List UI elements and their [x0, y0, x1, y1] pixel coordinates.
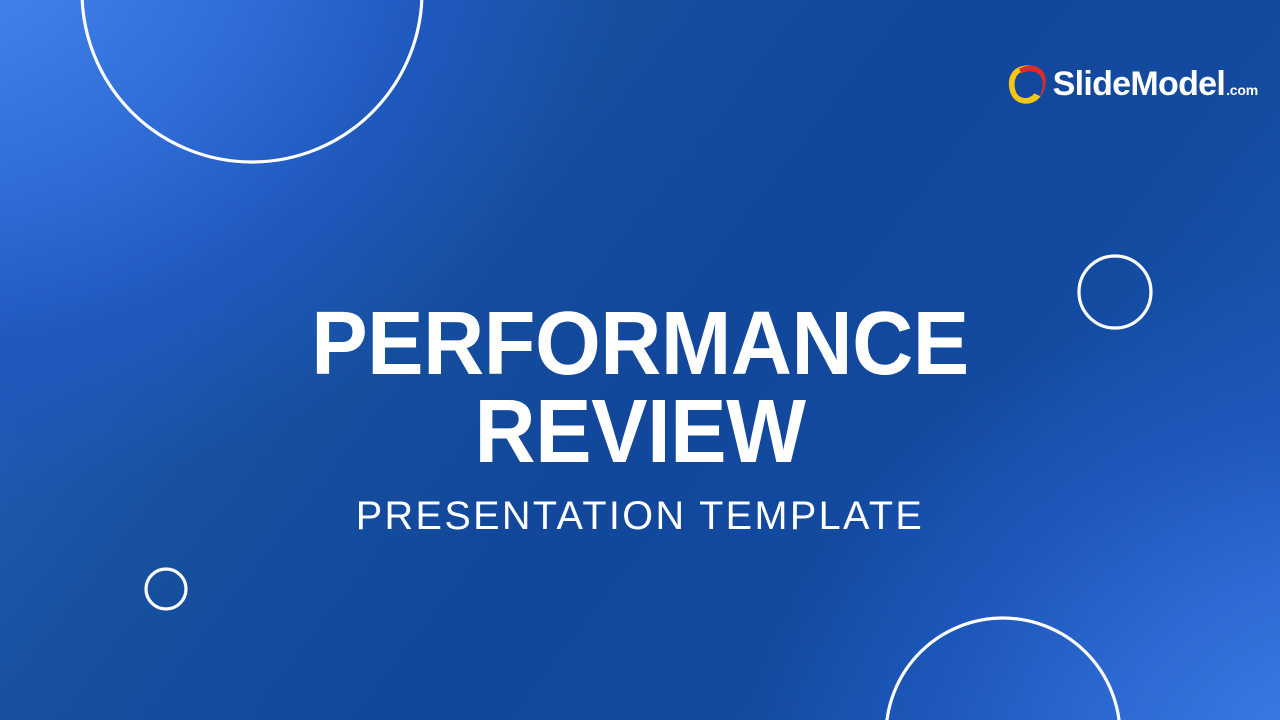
title-text-block: PERFORMANCE REVIEW PRESENTATION TEMPLATE [0, 300, 1280, 538]
logo-word-text: SlideModel [1053, 67, 1225, 101]
slidemodel-logo-mark-icon [1007, 63, 1047, 105]
slide-subtitle: PRESENTATION TEMPLATE [6, 494, 1273, 538]
slidemodel-wordmark: SlideModel .com [1053, 67, 1258, 101]
slidemodel-logo: SlideModel .com [1007, 62, 1258, 106]
title-slide: SlideModel .com PERFORMANCE REVIEW PRESE… [0, 0, 1280, 720]
slide-title: PERFORMANCE REVIEW [38, 300, 1241, 476]
logo-tld-text: .com [1226, 83, 1258, 97]
